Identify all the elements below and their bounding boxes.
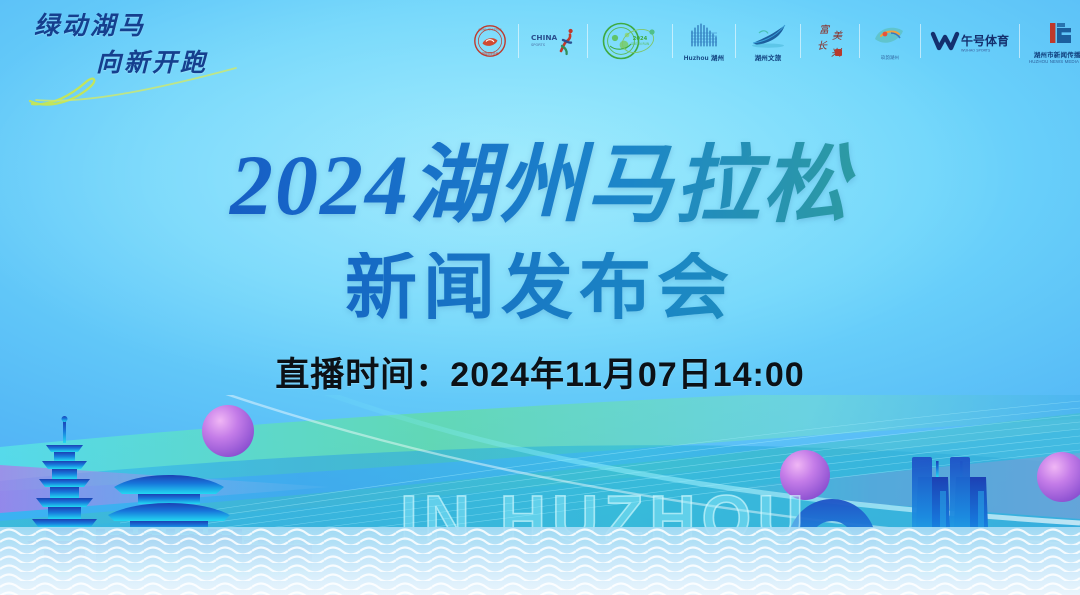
logo-huzhou-city: Huzhou 湖州: [673, 10, 735, 72]
svg-text:富: 富: [819, 24, 831, 36]
huzhou-culture-tourism-icon: [745, 20, 791, 50]
huzhou-city-icon: [682, 20, 726, 50]
event-slogan: 绿动湖马 向新开跑: [24, 14, 274, 104]
logo-caption: 玖韵湖州: [881, 55, 899, 61]
logo-fumei-changxing: 富 美 长 兴: [801, 10, 859, 72]
sphere-purple-left: [202, 405, 254, 457]
logo-eco-green-circle: 2024 GREEN RUN: [588, 10, 672, 72]
eco-green-circle-icon: 2024 GREEN RUN: [597, 19, 663, 63]
logo-wuhao-sports: 午号体育 WUHAO SPORTS: [921, 10, 1019, 72]
huzhou-media-center-icon: [1041, 19, 1080, 47]
svg-text:CHINA ATHLETICS: CHINA ATHLETICS: [478, 27, 501, 31]
logo-china-athletics-association: CHINA ATHLETICS 中国田径协会: [462, 10, 518, 72]
page-subtitle: 新闻发布会: [0, 252, 1080, 324]
page-title: 2024湖州马拉松: [0, 142, 1080, 228]
svg-text:美: 美: [832, 30, 843, 42]
svg-text:SPORTS: SPORTS: [531, 43, 546, 47]
jiuyun-huzhou-icon: [869, 21, 911, 55]
fumei-changxing-icon: 富 美 长 兴: [810, 19, 850, 63]
slogan-line-1: 绿动湖马: [34, 14, 274, 39]
svg-text:午号体育: 午号体育: [961, 33, 1009, 48]
svg-text:WUHAO SPORTS: WUHAO SPORTS: [961, 48, 991, 52]
logo-huzhou-culture-tourism: 湖州文旅: [736, 10, 800, 72]
svg-text:CHINA: CHINA: [531, 33, 558, 42]
china-sports-runner-icon: CHINA SPORTS: [528, 24, 578, 58]
broadcast-time: 直播时间：2024年11月07日14:00: [0, 358, 1080, 392]
svg-text:长: 长: [817, 40, 828, 52]
broadcast-banner: 绿动湖马 向新开跑 CHINA ATHLETICS 中国田径协会 CHINA S…: [0, 0, 1080, 595]
water-waves: [0, 527, 1080, 595]
logo-strip: CHINA ATHLETICS 中国田径协会 CHINA SPORTS: [462, 8, 1080, 74]
logo-caption: 湖州文旅: [755, 52, 782, 62]
logo-caption-sub: HUZHOU NEWS MEDIA CENTRE: [1029, 59, 1080, 64]
water-wave-footer: [0, 527, 1080, 595]
logo-caption: Huzhou 湖州: [684, 52, 724, 62]
svg-text:中国田径协会: 中国田径协会: [482, 52, 499, 56]
logo-jiuyun-huzhou: 玖韵湖州: [860, 10, 920, 72]
sphere-purple-mid: [780, 450, 830, 500]
logo-huzhou-media-center: 湖州市新闻传播中心 HUZHOU NEWS MEDIA CENTRE: [1020, 10, 1080, 72]
logo-china-sports-runner: CHINA SPORTS: [519, 10, 587, 72]
swoosh-icon: [24, 60, 254, 108]
china-athletics-association-icon: CHINA ATHLETICS 中国田径协会: [473, 24, 507, 58]
logo-caption: 湖州市新闻传播中心: [1034, 49, 1080, 59]
wuhao-sports-icon: 午号体育 WUHAO SPORTS: [930, 28, 1010, 54]
svg-text:GREEN RUN: GREEN RUN: [631, 42, 650, 46]
